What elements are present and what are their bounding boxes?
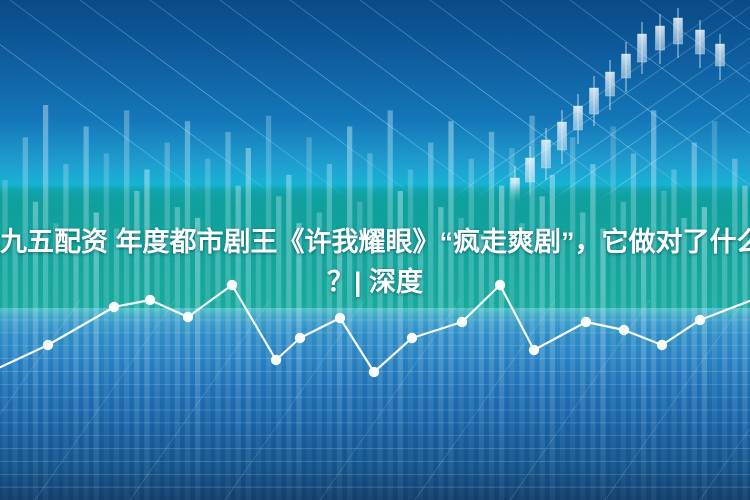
trend-marker: [183, 312, 193, 322]
trend-marker: [335, 313, 345, 323]
trend-marker: [43, 340, 53, 350]
headline-line-2: ？| 深度: [0, 262, 750, 302]
trend-marker: [695, 315, 705, 325]
trend-marker: [407, 333, 417, 343]
trend-marker: [657, 340, 667, 350]
trend-marker: [457, 317, 467, 327]
trend-marker: [581, 317, 591, 327]
banner-canvas: 九五配资 年度都市剧王《许我耀眼》“疯走爽剧”，它做对了什么 ？| 深度: [0, 0, 750, 500]
trend-marker: [529, 345, 539, 355]
trend-marker: [369, 367, 379, 377]
headline-line-1: 九五配资 年度都市剧王《许我耀眼》“疯走爽剧”，它做对了什么: [0, 222, 750, 262]
trend-marker: [271, 355, 281, 365]
trend-marker: [109, 302, 119, 312]
trend-marker: [619, 325, 629, 335]
trend-marker: [295, 333, 305, 343]
banner-headline: 九五配资 年度都市剧王《许我耀眼》“疯走爽剧”，它做对了什么 ？| 深度: [0, 222, 750, 302]
